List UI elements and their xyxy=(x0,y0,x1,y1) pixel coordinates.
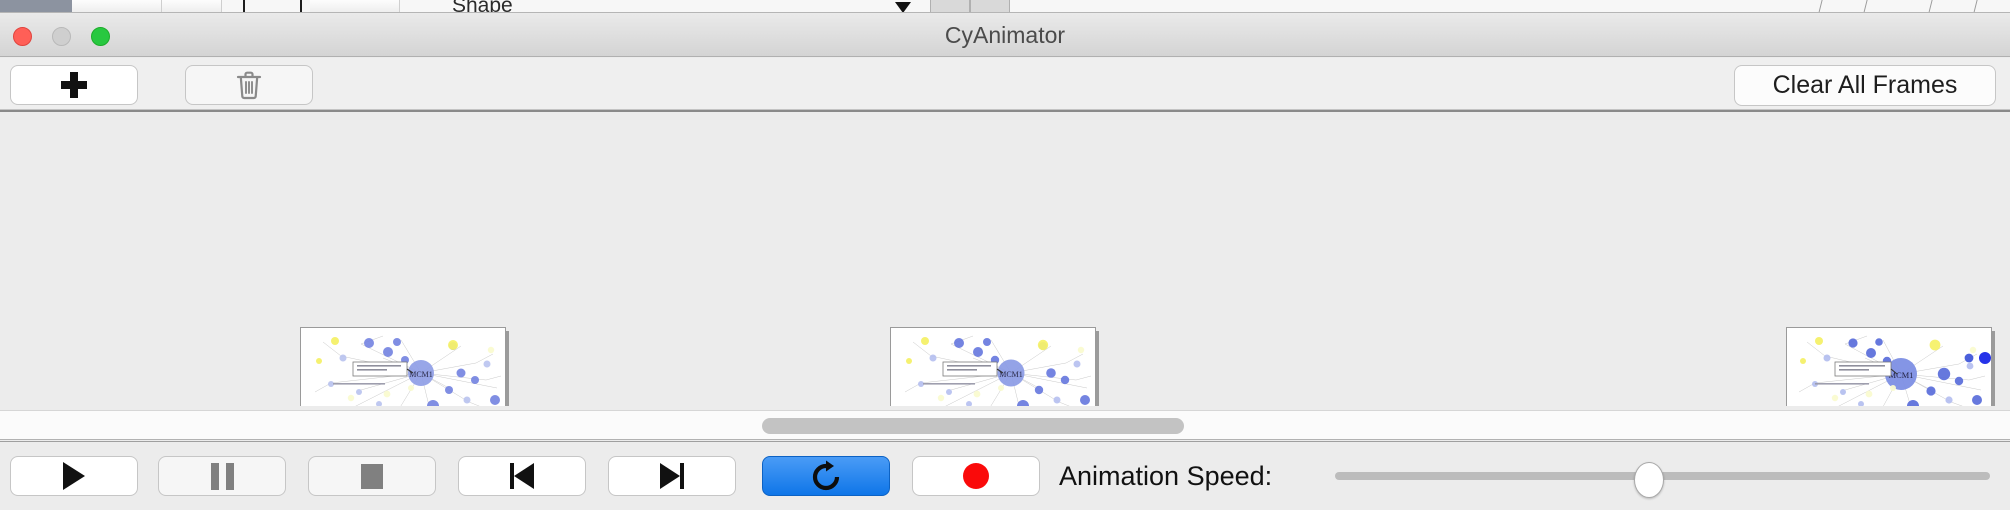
record-button[interactable] xyxy=(912,456,1040,496)
toolbar: Clear All Frames xyxy=(0,58,2010,110)
timeline-frame-3[interactable]: MCM1 xyxy=(1786,327,1992,406)
skip-forward-icon xyxy=(660,463,684,489)
background-window-mark xyxy=(300,0,302,13)
cyanimator-window: Shape CyAnimator Clear All Frames xyxy=(0,0,2010,510)
delete-frame-button[interactable] xyxy=(185,65,313,105)
skip-end-button[interactable] xyxy=(608,456,736,496)
add-frame-button[interactable] xyxy=(10,65,138,105)
network-thumbnail-icon: MCM1 xyxy=(1787,328,1991,406)
background-window-divider xyxy=(1863,0,1867,13)
clear-all-frames-button[interactable]: Clear All Frames xyxy=(1734,65,1996,106)
loop-icon xyxy=(811,460,841,492)
skip-back-icon xyxy=(510,463,534,489)
timeline-scrollbar[interactable] xyxy=(0,410,2010,440)
play-button[interactable] xyxy=(10,456,138,496)
skip-start-button[interactable] xyxy=(458,456,586,496)
titlebar: CyAnimator xyxy=(0,13,2010,57)
background-window-caret-icon xyxy=(895,2,911,13)
network-thumbnail-icon: MCM1 xyxy=(891,328,1095,406)
timeline-frame-2[interactable]: MCM1 xyxy=(890,327,1096,406)
background-window-label: Shape xyxy=(452,0,513,13)
minimize-button[interactable] xyxy=(52,27,71,46)
pause-icon xyxy=(211,463,234,490)
clear-all-frames-label: Clear All Frames xyxy=(1773,71,1958,100)
slider-thumb[interactable] xyxy=(1634,462,1664,498)
svg-text:MCM1: MCM1 xyxy=(409,370,433,379)
play-icon xyxy=(63,462,85,490)
maximize-button[interactable] xyxy=(91,27,110,46)
background-window-segment xyxy=(162,0,222,13)
animation-speed-label: Animation Speed: xyxy=(1059,456,1272,496)
close-button[interactable] xyxy=(13,27,32,46)
record-icon xyxy=(963,463,989,489)
background-window-mark xyxy=(243,0,245,13)
svg-text:MCM1: MCM1 xyxy=(999,370,1023,379)
trash-icon xyxy=(235,70,263,100)
background-window-segment xyxy=(72,0,162,13)
loop-button[interactable] xyxy=(762,456,890,496)
background-window-tab xyxy=(0,0,72,13)
playback-bar: Animation Speed: xyxy=(0,441,2010,510)
background-window-segment xyxy=(310,0,400,13)
background-window-box xyxy=(930,0,970,13)
network-thumbnail-icon: MCM1 xyxy=(301,328,505,406)
timeline-panel[interactable]: MCM1 xyxy=(0,110,2010,406)
background-window-divider xyxy=(1818,0,1822,13)
background-window-divider xyxy=(1973,0,1977,13)
background-window-divider xyxy=(1928,0,1932,13)
page-title: CyAnimator xyxy=(0,13,2010,57)
svg-text:MCM1: MCM1 xyxy=(1889,371,1914,380)
background-window-strip: Shape xyxy=(0,0,2010,13)
timeline-frame-1[interactable]: MCM1 xyxy=(300,327,506,406)
plus-icon xyxy=(61,72,87,98)
animation-speed-slider[interactable] xyxy=(1335,456,1990,496)
background-window-box xyxy=(970,0,1010,13)
scrollbar-thumb[interactable] xyxy=(762,418,1184,434)
pause-button[interactable] xyxy=(158,456,286,496)
stop-icon xyxy=(361,464,383,489)
stop-button[interactable] xyxy=(308,456,436,496)
